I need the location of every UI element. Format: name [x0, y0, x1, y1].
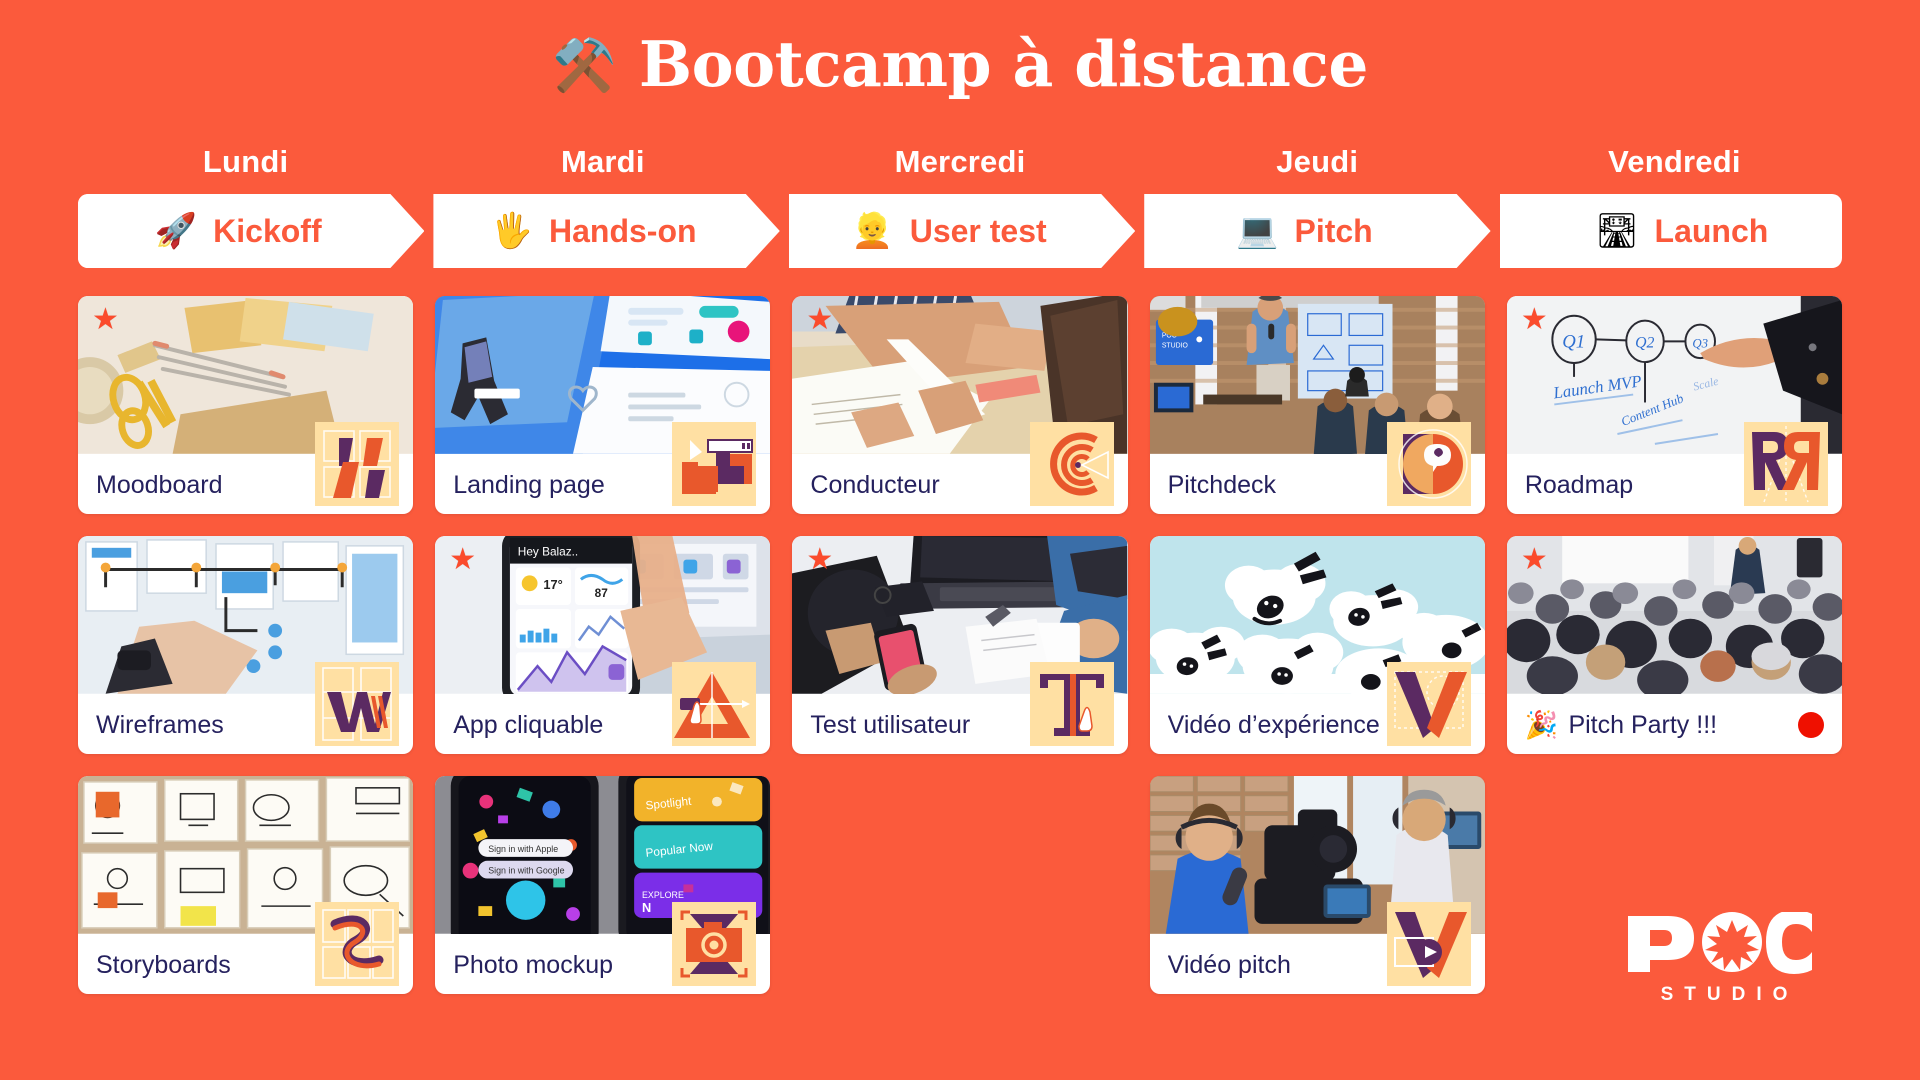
starred-badge: ★ [92, 306, 120, 334]
card-wireframes[interactable]: Wireframes [78, 536, 413, 754]
record-dot-icon [1798, 712, 1824, 738]
stage-pitch[interactable]: 💻 Pitch [1144, 194, 1490, 268]
token-badge-s [315, 902, 399, 986]
motorway-icon: 🛣 [1595, 214, 1638, 248]
card-title: Vidéo pitch [1168, 951, 1291, 980]
card-pitchdeck[interactable]: POC STUDIO [1150, 296, 1485, 514]
svg-text:17°: 17° [544, 577, 563, 592]
card-footer: 🎉 Pitch Party !!! [1507, 696, 1842, 754]
card-moodboard[interactable]: ★ Moodboard [78, 296, 413, 514]
stage-label-kickoff: Kickoff [213, 213, 321, 250]
stage-user-test[interactable]: 👱 User test [789, 194, 1135, 268]
card-storyboards[interactable]: Storyboards [78, 776, 413, 994]
card-app-cliquable[interactable]: Hey Balaz.. 17° 87 [435, 536, 770, 754]
svg-text:Q2: Q2 [1635, 334, 1654, 351]
poc-logo-mark [1624, 912, 1824, 974]
starred-badge: ★ [806, 546, 834, 574]
card-pitch-party[interactable]: ★ 🎉 Pitch Party !!! [1507, 536, 1842, 754]
stage-kickoff[interactable]: 🚀 Kickoff [78, 194, 424, 268]
card-thumbnail [1507, 536, 1842, 696]
card-roadmap[interactable]: Q1Q2Q3 Launch MVP Content Hub Scale [1507, 296, 1842, 514]
column-mercredi: ★ Conducteur [792, 296, 1127, 994]
day-label-lundi: Lundi [78, 144, 413, 180]
column-jeudi: POC STUDIO [1150, 296, 1485, 994]
svg-text:STUDIO: STUDIO [1161, 342, 1188, 349]
svg-text:Hey Balaz..: Hey Balaz.. [518, 545, 578, 559]
stage-chevron-bar: 🚀 Kickoff 🖐 Hands-on 👱 User test 💻 Pitch… [0, 180, 1920, 274]
poc-studio-logo: STUDIO [1624, 912, 1824, 1006]
token-badge-a [672, 662, 756, 746]
card-title: Moodboard [96, 471, 222, 500]
token-badge-r [1744, 422, 1828, 506]
card-title: Test utilisateur [810, 711, 970, 740]
card-title: Wireframes [96, 711, 224, 740]
raised-hand-icon: 🖐 [491, 214, 533, 248]
stage-label-hands-on: Hands-on [549, 213, 697, 250]
day-labels-row: Lundi Mardi Mercredi Jeudi Vendredi [0, 128, 1920, 180]
card-video-experience[interactable]: Vidéo d’expérience [1150, 536, 1485, 754]
column-mardi: Landing page Hey Balaz.. [435, 296, 770, 994]
page-title: Bootcamp à distance [639, 27, 1368, 101]
pitch-party-photo [1507, 536, 1842, 694]
token-badge-w [315, 662, 399, 746]
day-label-vendredi: Vendredi [1507, 144, 1842, 180]
rocket-icon: 🚀 [155, 214, 197, 248]
card-title: Pitch Party !!! [1568, 711, 1717, 740]
card-title: Roadmap [1525, 471, 1633, 500]
svg-text:87: 87 [595, 586, 609, 600]
stage-label-pitch: Pitch [1294, 213, 1372, 250]
starred-badge: ★ [1521, 306, 1549, 334]
card-title: Conducteur [810, 471, 939, 500]
day-label-mercredi: Mercredi [792, 144, 1127, 180]
stage-launch[interactable]: 🛣 Launch [1500, 194, 1842, 268]
card-video-pitch[interactable]: Vidéo pitch [1150, 776, 1485, 994]
svg-text:Q3: Q3 [1692, 336, 1708, 350]
laptop-icon: 💻 [1236, 214, 1278, 248]
day-label-mardi: Mardi [435, 144, 770, 180]
starred-badge: ★ [449, 546, 477, 574]
stage-label-user-test: User test [910, 213, 1047, 250]
page-header: ⚒️ Bootcamp à distance [0, 0, 1920, 128]
card-title: Storyboards [96, 951, 231, 980]
card-title: Photo mockup [453, 951, 613, 980]
stage-hands-on[interactable]: 🖐 Hands-on [433, 194, 779, 268]
token-badge-v [1387, 662, 1471, 746]
starred-badge: ★ [806, 306, 834, 334]
token-badge-window [672, 422, 756, 506]
stage-label-launch: Launch [1655, 213, 1769, 250]
token-badge-t [1030, 662, 1114, 746]
card-title: Landing page [453, 471, 605, 500]
card-photo-mockup[interactable]: Sign in with Apple Sign in with Google S… [435, 776, 770, 994]
svg-text:Sign in with Apple: Sign in with Apple [488, 844, 558, 854]
token-badge-c [1030, 422, 1114, 506]
svg-text:Q1: Q1 [1562, 331, 1585, 352]
token-badge-p [1387, 422, 1471, 506]
card-conducteur[interactable]: ★ Conducteur [792, 296, 1127, 514]
blond-person-icon: 👱 [851, 214, 893, 248]
column-vendredi: Q1Q2Q3 Launch MVP Content Hub Scale [1507, 296, 1842, 994]
svg-text:Sign in with Google: Sign in with Google [488, 866, 564, 876]
svg-text:EXPLORE: EXPLORE [642, 890, 684, 900]
column-lundi: ★ Moodboard [78, 296, 413, 994]
card-title: App cliquable [453, 711, 603, 740]
card-title: Vidéo d’expérience [1168, 711, 1380, 740]
starred-badge: ★ [1521, 546, 1549, 574]
hammer-and-pick-icon: ⚒️ [552, 40, 617, 92]
card-test-utilisateur[interactable]: ★ Test utilisateur [792, 536, 1127, 754]
token-badge-camera [672, 902, 756, 986]
party-popper-icon: 🎉 [1525, 712, 1559, 739]
poc-logo-wordmark: STUDIO [1624, 984, 1824, 1006]
board: ★ Moodboard [0, 274, 1920, 994]
card-title: Pitchdeck [1168, 471, 1276, 500]
svg-text:N: N [642, 900, 651, 915]
day-label-jeudi: Jeudi [1150, 144, 1485, 180]
token-badge-video-v [1387, 902, 1471, 986]
card-landing-page[interactable]: Landing page [435, 296, 770, 514]
token-badge-m [315, 422, 399, 506]
